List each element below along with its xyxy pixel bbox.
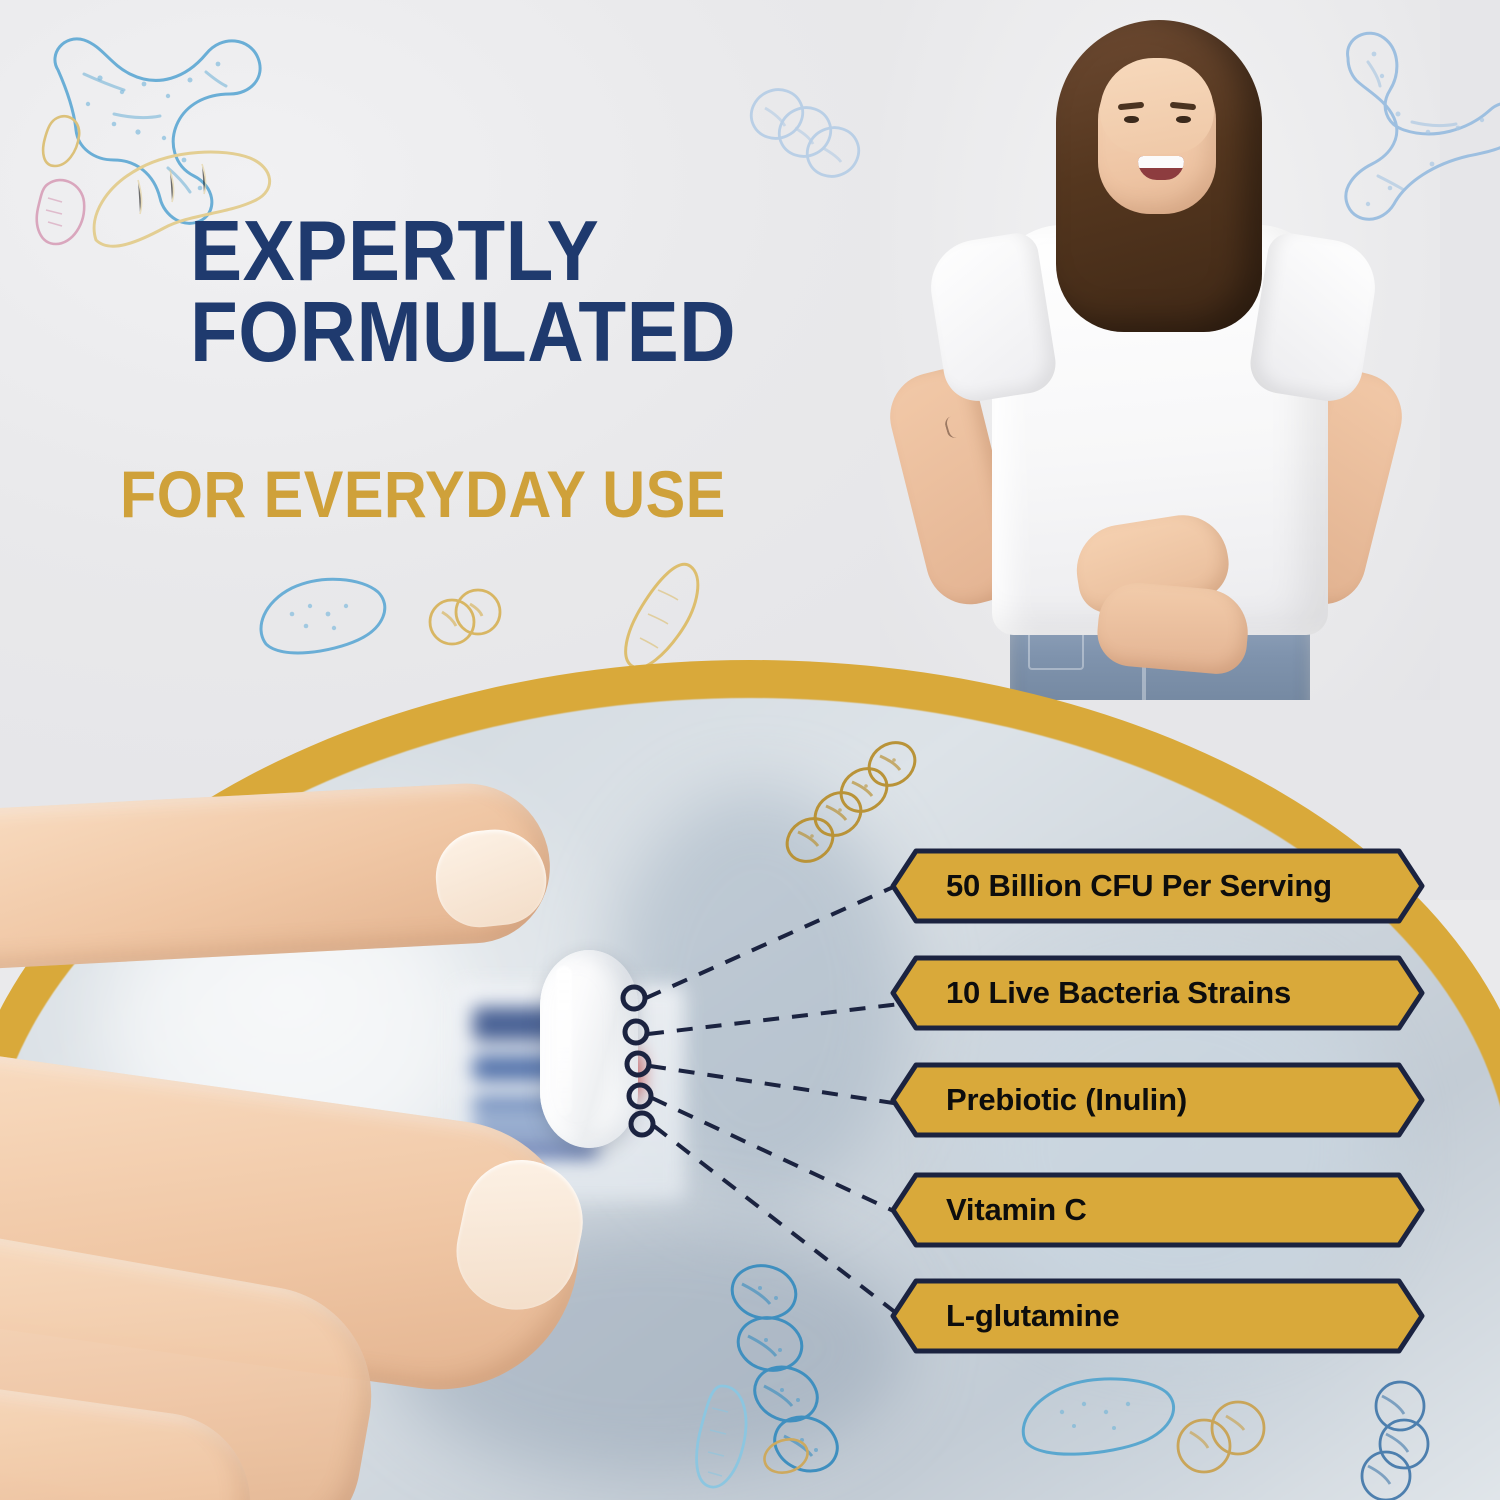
feature-label: Prebiotic (Inulin) bbox=[890, 1082, 1187, 1118]
product-infographic: EXPERTLY FORMULATED FOR EVERYDAY USE bbox=[0, 0, 1500, 1500]
feature-banner[interactable]: 10 Live Bacteria Strains bbox=[890, 955, 1425, 1031]
feature-label: L-glutamine bbox=[890, 1298, 1119, 1334]
feature-banner[interactable]: Vitamin C bbox=[890, 1172, 1425, 1248]
feature-label: 50 Billion CFU Per Serving bbox=[890, 868, 1332, 904]
feature-banner[interactable]: 50 Billion CFU Per Serving bbox=[890, 848, 1425, 924]
feature-banner[interactable]: L-glutamine bbox=[890, 1278, 1425, 1354]
feature-banner[interactable]: Prebiotic (Inulin) bbox=[890, 1062, 1425, 1138]
callout-connectors bbox=[0, 0, 1500, 1500]
feature-label: Vitamin C bbox=[890, 1192, 1087, 1228]
feature-label: 10 Live Bacteria Strains bbox=[890, 975, 1291, 1011]
